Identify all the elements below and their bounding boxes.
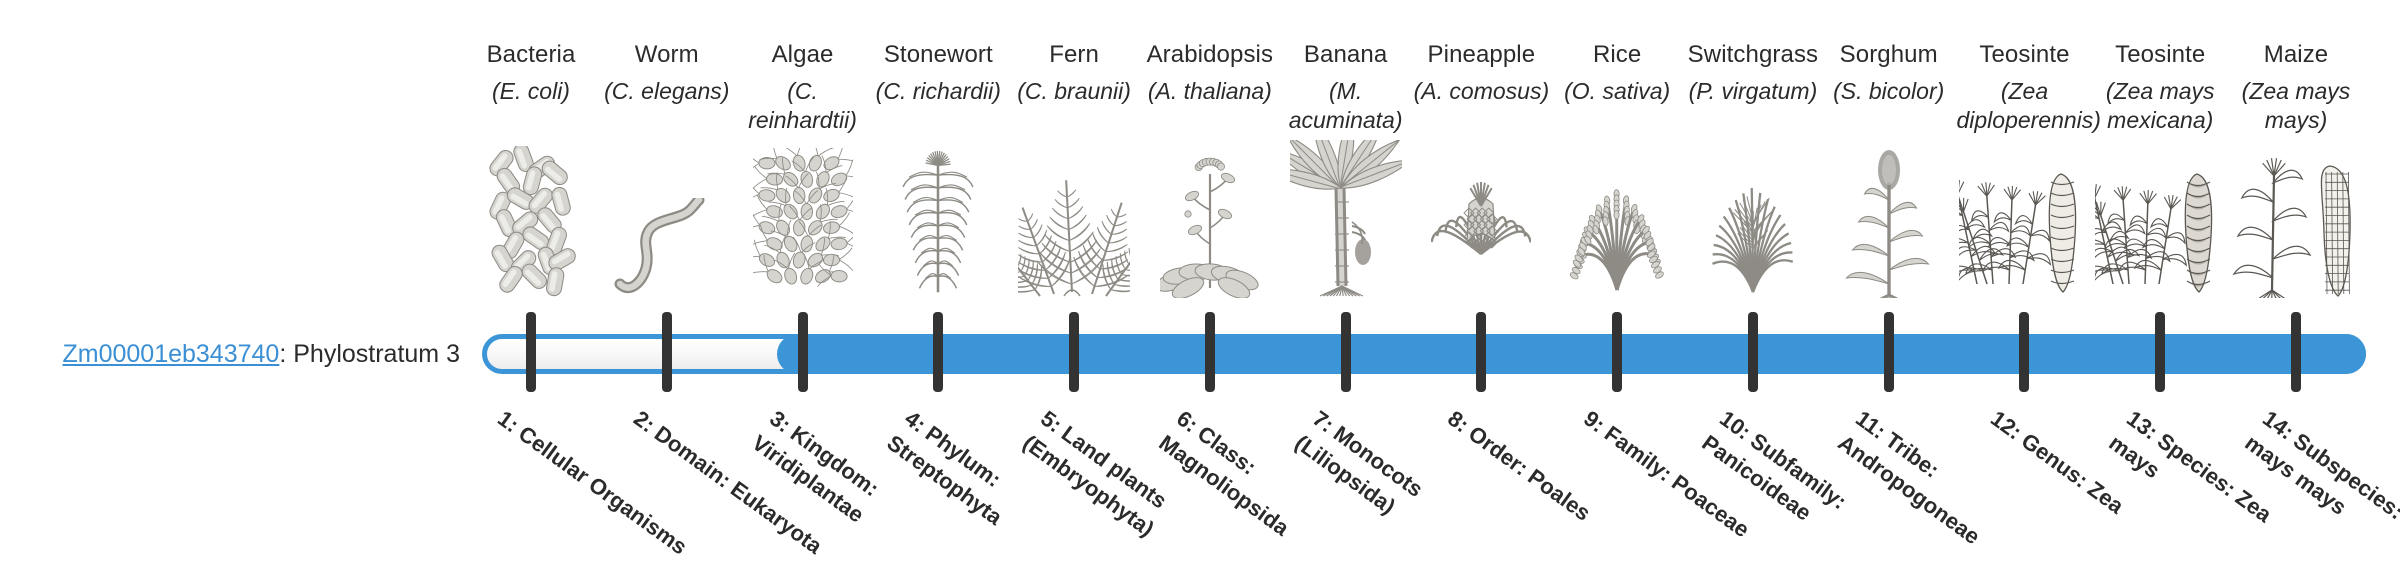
species-column-4: Stonewort(C. richardii): [870, 40, 1006, 106]
species-column-5: Fern(C. braunii): [1006, 40, 1142, 106]
species-latin-name: (C. elegans): [599, 77, 735, 106]
species-latin-name: (S. bicolor): [1821, 77, 1957, 106]
stonewort-alga-icon: [870, 168, 1006, 298]
species-column-10: Switchgrass(P. virgatum): [1685, 40, 1821, 106]
bacteria-rods-icon: [463, 168, 599, 298]
species-common-name: Bacteria: [463, 40, 599, 70]
species-common-name: Algae: [735, 40, 871, 70]
species-latin-name: (Zea diploperennis): [1956, 77, 2092, 135]
pineapple-plant-icon: [1413, 168, 1549, 298]
species-latin-name: (Zea mays mays): [2228, 77, 2364, 135]
species-latin-name: (A. thaliana): [1142, 77, 1278, 106]
teosinte-mexicana-ear-icon: [2092, 168, 2228, 298]
species-common-name: Banana: [1278, 40, 1414, 70]
switchgrass-clump-icon: [1685, 168, 1821, 298]
phylostratum-tick-10[interactable]: [1748, 312, 1758, 392]
phylostratum-tick-7[interactable]: [1341, 312, 1351, 392]
phylostratum-name: Order: Poales: [1464, 421, 1595, 526]
species-common-name: Fern: [1006, 40, 1142, 70]
species-column-9: Rice(O. sativa): [1549, 40, 1685, 106]
species-latin-name: (Zea mays mexicana): [2092, 77, 2228, 135]
phylostratum-track[interactable]: [482, 334, 2366, 374]
nematode-worm-icon: [599, 168, 735, 298]
phylostratum-number: 12:: [1987, 406, 2027, 445]
arabidopsis-rosette-icon: [1142, 168, 1278, 298]
gene-phylostratum-value: Phylostratum 3: [293, 340, 460, 368]
maize-plant-cob-icon: [2228, 168, 2364, 298]
species-common-name: Pineapple: [1413, 40, 1549, 70]
species-common-name: Teosinte: [1956, 40, 2092, 70]
species-column-13: Teosinte(Zea mays mexicana): [2092, 40, 2228, 135]
species-column-6: Arabidopsis(A. thaliana): [1142, 40, 1278, 106]
phylostratum-tick-11[interactable]: [1884, 312, 1894, 392]
species-latin-name: (P. virgatum): [1685, 77, 1821, 106]
gene-id-link[interactable]: Zm00001eb343740: [62, 340, 279, 368]
phylostratum-tick-9[interactable]: [1612, 312, 1622, 392]
species-common-name: Arabidopsis: [1142, 40, 1278, 70]
phylostratum-tick-12[interactable]: [2019, 312, 2029, 392]
species-latin-name: (A. comosus): [1413, 77, 1549, 106]
green-algae-cells-icon: [735, 168, 871, 298]
species-column-7: Banana(M. acuminata): [1278, 40, 1414, 135]
species-latin-name: (O. sativa): [1549, 77, 1685, 106]
species-common-name: Maize: [2228, 40, 2364, 70]
phylostratum-tick-13[interactable]: [2155, 312, 2165, 392]
species-latin-name: (E. coli): [463, 77, 599, 106]
species-column-14: Maize(Zea mays mays): [2228, 40, 2364, 135]
phylostratum-tick-2[interactable]: [662, 312, 672, 392]
phylostratum-tick-6[interactable]: [1205, 312, 1215, 392]
sorghum-plant-icon: [1821, 168, 1957, 298]
species-latin-name: (M. acuminata): [1278, 77, 1414, 135]
species-common-name: Rice: [1549, 40, 1685, 70]
species-common-name: Worm: [599, 40, 735, 70]
species-latin-name: (C. richardii): [870, 77, 1006, 106]
species-column-12: Teosinte(Zea diploperennis): [1956, 40, 2092, 135]
rice-plant-icon: [1549, 168, 1685, 298]
phylostratum-tick-8[interactable]: [1476, 312, 1486, 392]
phylostratum-tick-1[interactable]: [526, 312, 536, 392]
species-column-8: Pineapple(A. comosus): [1413, 40, 1549, 106]
species-latin-name: (C. reinhardtii): [735, 77, 871, 135]
species-common-name: Sorghum: [1821, 40, 1957, 70]
phylostratum-tick-4[interactable]: [933, 312, 943, 392]
phylostratum-timeline-figure: Zm00001eb343740: Phylostratum 3 Bacteria…: [0, 0, 2400, 580]
species-common-name: Teosinte: [2092, 40, 2228, 70]
fern-frond-icon: [1006, 168, 1142, 298]
species-common-name: Switchgrass: [1685, 40, 1821, 70]
phylostratum-tick-5[interactable]: [1069, 312, 1079, 392]
phylostratum-tick-14[interactable]: [2291, 312, 2301, 392]
species-column-3: Algae(C. reinhardtii): [735, 40, 871, 135]
species-common-name: Stonewort: [870, 40, 1006, 70]
gene-phylostratum-label: Zm00001eb343740: Phylostratum 3: [40, 338, 460, 370]
phylostratum-tick-3[interactable]: [798, 312, 808, 392]
banana-plant-icon: [1278, 168, 1414, 298]
gene-label-separator: :: [279, 340, 293, 368]
species-latin-name: (C. braunii): [1006, 77, 1142, 106]
teosinte-plant-ear-icon: [1956, 168, 2092, 298]
species-column-2: Worm(C. elegans): [599, 40, 735, 106]
species-column-1: Bacteria(E. coli): [463, 40, 599, 106]
species-column-11: Sorghum(S. bicolor): [1821, 40, 1957, 106]
